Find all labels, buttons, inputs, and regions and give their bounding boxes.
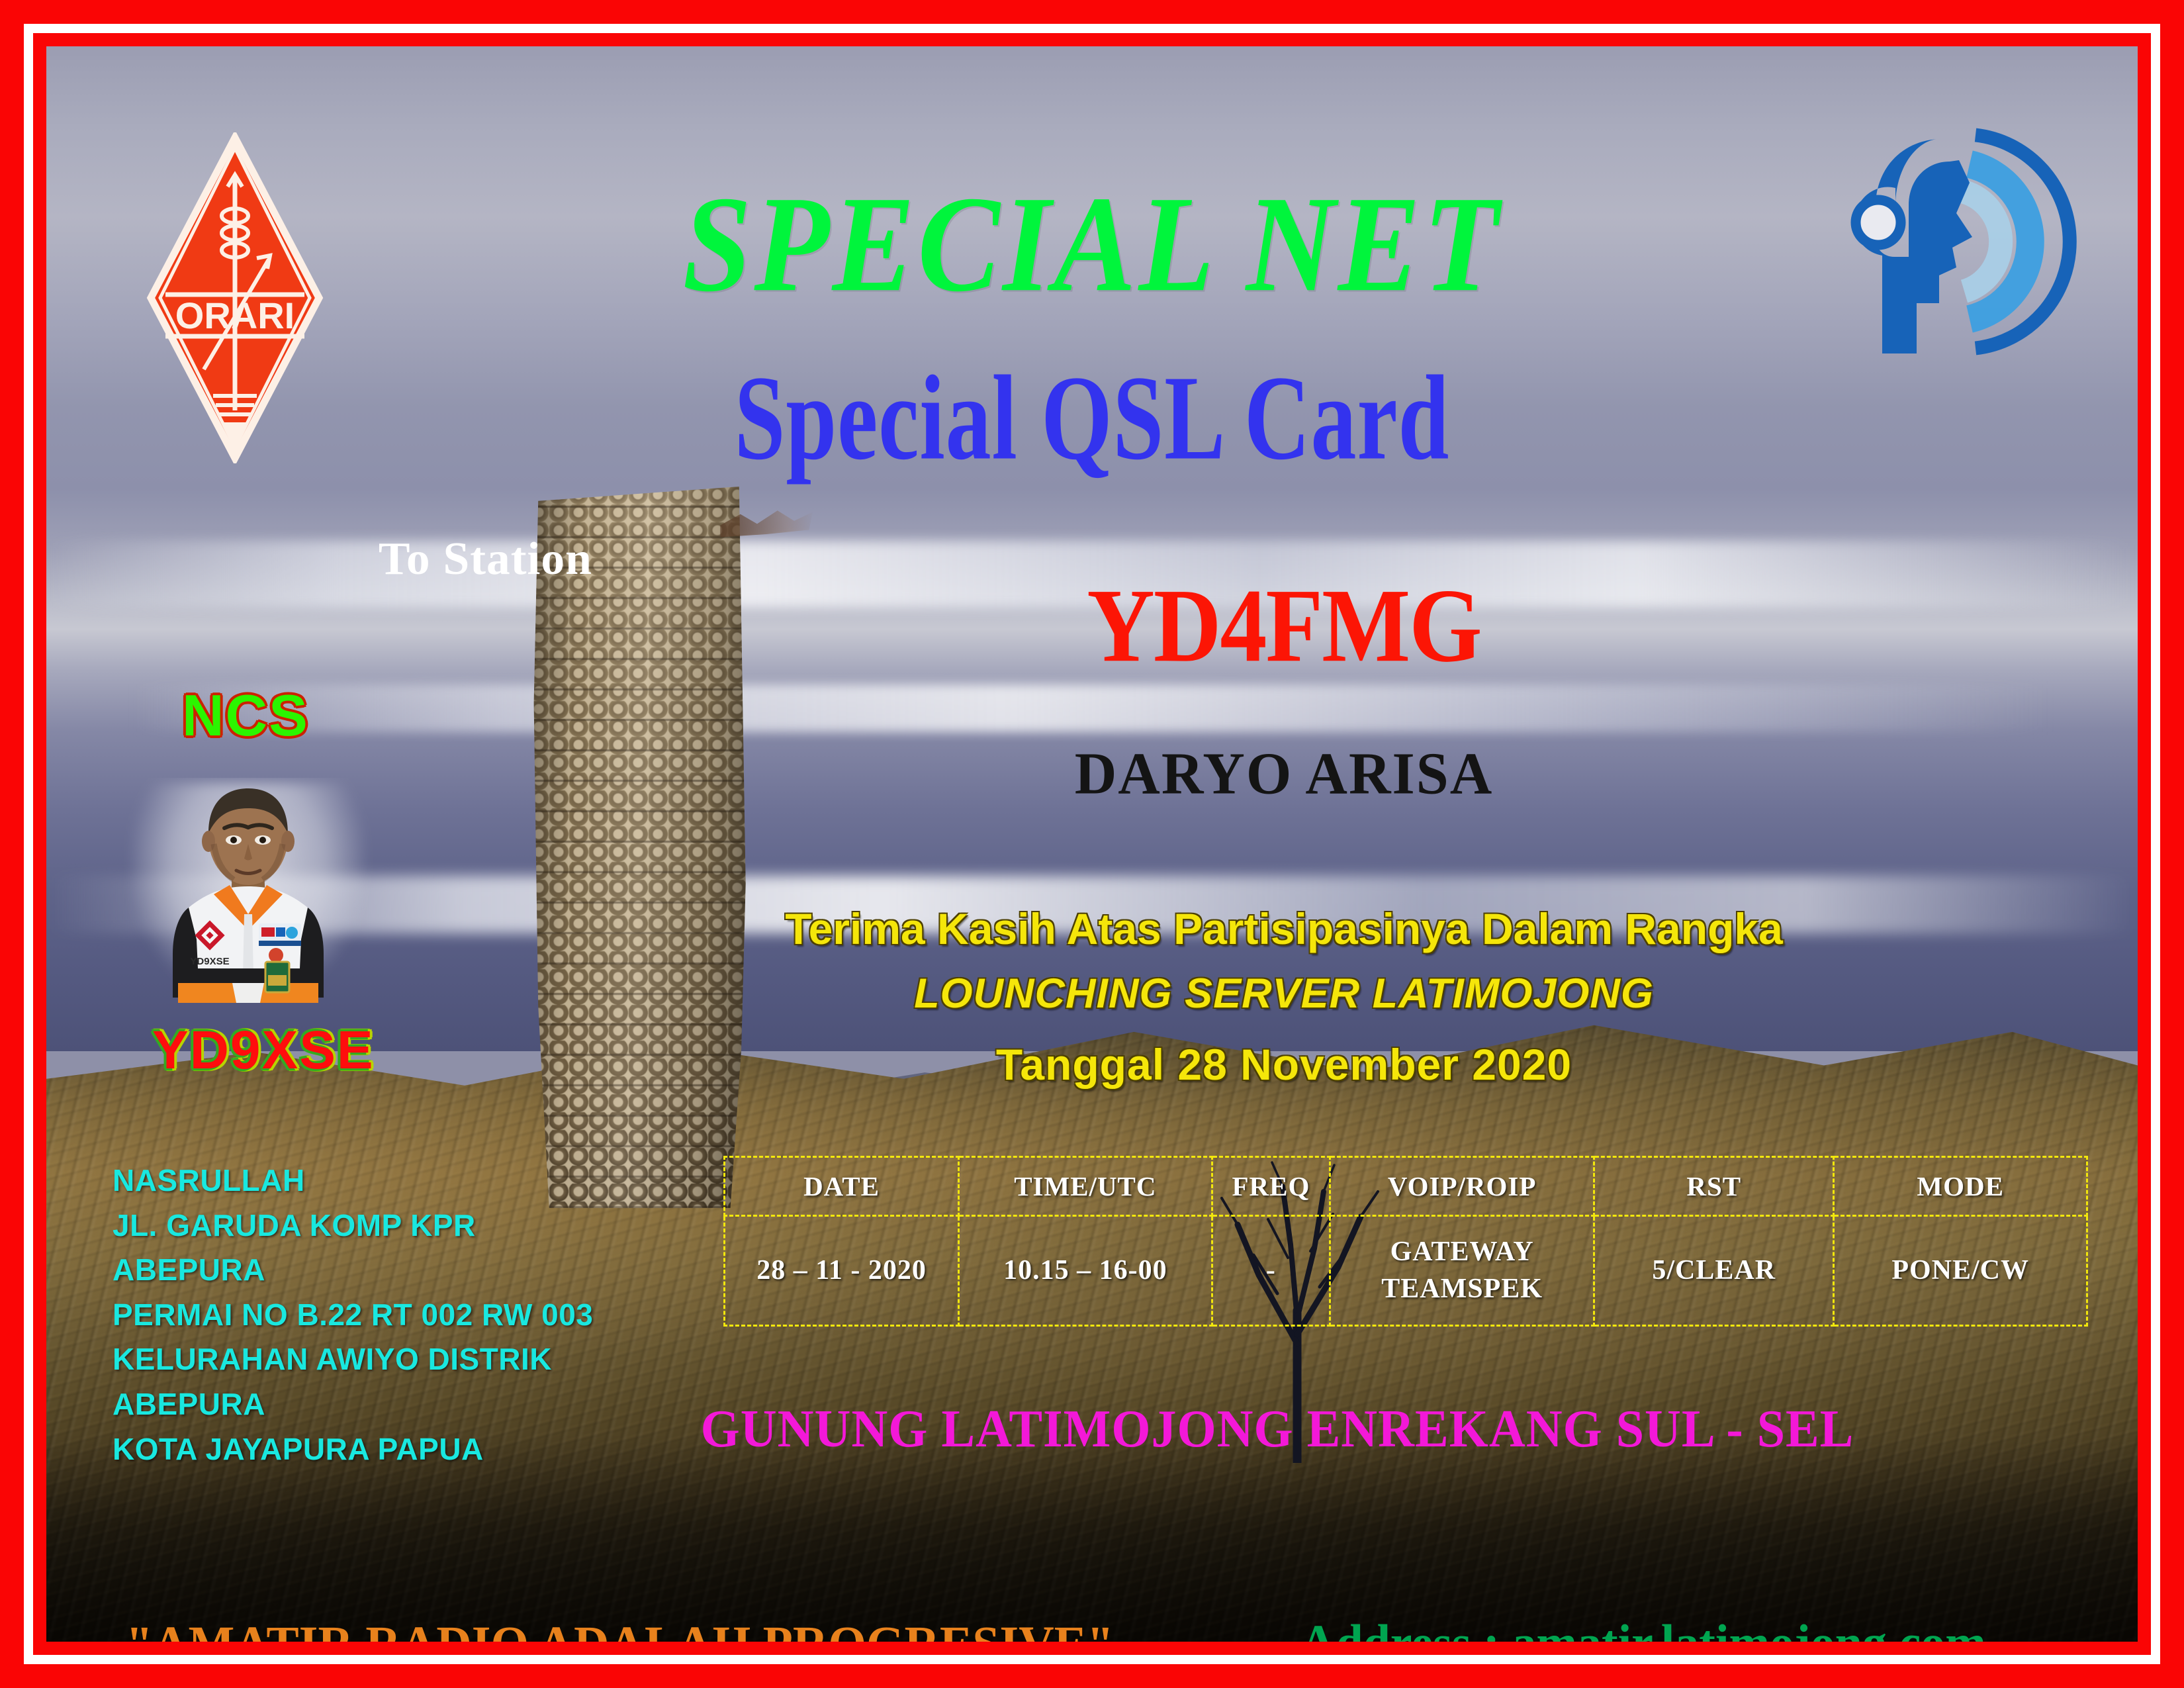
address-line: JL. GARUDA KOMP KPR — [113, 1203, 593, 1248]
address-line: NASRULLAH — [113, 1158, 593, 1203]
column-header-freq: FREQ — [1212, 1157, 1330, 1216]
operator-portrait: YD9XSE — [109, 778, 387, 1003]
qsl-card: ORARI — [0, 0, 2184, 1688]
cell-freq: - — [1212, 1216, 1330, 1326]
card-inner-red-frame: ORARI — [33, 33, 2151, 1655]
cloud-streak — [46, 684, 2138, 732]
cell-voip-line-1: GATEWAY — [1331, 1234, 1593, 1270]
card-photo-background: ORARI — [46, 46, 2138, 1642]
page-title-special-net: SPECIAL NET — [46, 176, 2138, 314]
cell-date: 28 – 11 - 2020 — [725, 1216, 959, 1326]
column-header-date: DATE — [725, 1157, 959, 1216]
event-location-text: GUNUNG LATIMOJONG ENREKANG SUL - SEL — [46, 1402, 2138, 1456]
cell-rst: 5/CLEAR — [1594, 1216, 1834, 1326]
footer-motto-text: "AMATIR RADIO ADALAH PROGRESIVE" — [126, 1615, 1114, 1642]
cell-voip: GATEWAY TEAMSPEK — [1330, 1216, 1594, 1326]
column-header-mode: MODE — [1834, 1157, 2087, 1216]
cell-time: 10.15 – 16-00 — [959, 1216, 1212, 1326]
qso-details-table: DATE TIME/UTC FREQ VOIP/ROIP RST MODE 28… — [723, 1156, 2088, 1327]
ncs-label: NCS — [182, 682, 309, 749]
column-header-voip: VOIP/ROIP — [1330, 1157, 1594, 1216]
address-line: ABEPURA — [113, 1248, 593, 1293]
page-subtitle-qsl-card: Special QSL Card — [130, 357, 2054, 479]
table-row: 28 – 11 - 2020 10.15 – 16-00 - GATEWAY T… — [725, 1216, 2087, 1326]
card-white-frame: ORARI — [24, 24, 2160, 1664]
thanks-line-3: Tanggal 28 November 2020 — [46, 1043, 2138, 1086]
address-line: KELURAHAN AWIYO DISTRIK — [113, 1337, 593, 1382]
thanks-line-1: Terima Kasih Atas Partisipasinya Dalam R… — [46, 907, 2138, 951]
thanks-line-2: LOUNCHING SERVER LATIMOJONG — [46, 973, 2138, 1015]
recipient-operator-name: DARYO ARISA — [46, 745, 2138, 804]
address-line: PERMAI NO B.22 RT 002 RW 003 — [113, 1293, 593, 1338]
uniform-callsign-text: YD9XSE — [190, 956, 229, 967]
footer-website-address: Address : amatir.latimojong.com — [1300, 1614, 1986, 1642]
recipient-callsign: YD4FMG — [46, 573, 2138, 678]
table-header-row: DATE TIME/UTC FREQ VOIP/ROIP RST MODE — [725, 1157, 2087, 1216]
cell-voip-line-2: TEAMSPEK — [1331, 1271, 1593, 1307]
column-header-rst: RST — [1594, 1157, 1834, 1216]
column-header-time: TIME/UTC — [959, 1157, 1212, 1216]
ncs-operator-photo: YD9XSE — [109, 778, 387, 1003]
cell-mode: PONE/CW — [1834, 1216, 2087, 1326]
